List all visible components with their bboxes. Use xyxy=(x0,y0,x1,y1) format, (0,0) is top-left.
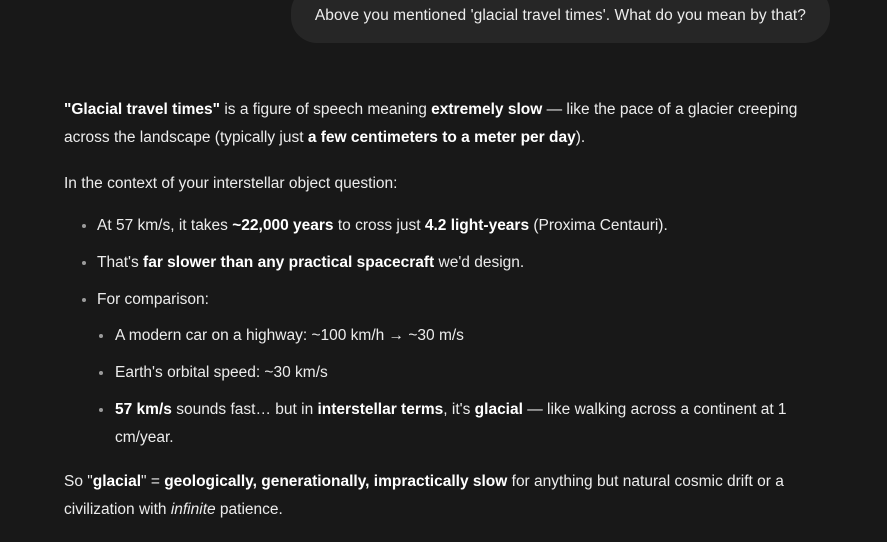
conclusion-paragraph: So "glacial" = geologically, generationa… xyxy=(64,468,832,524)
intro-after-term: is a figure of speech meaning xyxy=(220,101,431,118)
intro-paragraph: "Glacial travel times" is a figure of sp… xyxy=(64,96,832,152)
intro-quote-close: " xyxy=(213,101,220,118)
sub-bullet-2-tail-a: , it's xyxy=(443,401,474,418)
list-item: 57 km/s sounds fast… but in interstellar… xyxy=(97,396,832,452)
conclusion-lead: So " xyxy=(64,473,93,490)
sub-bullet-0-text: A modern car on a highway: ~100 km/h → ~… xyxy=(115,327,464,344)
comparison-bullet-list: A modern car on a highway: ~100 km/h → ~… xyxy=(97,322,832,452)
conclusion-italic-word: infinite xyxy=(171,501,216,518)
sub-bullet-2-bold-lead: 57 km/s xyxy=(115,401,172,418)
sub-bullet-2-bold-mid: interstellar terms xyxy=(318,401,444,418)
sub-bullet-2-bold-end: glacial xyxy=(475,401,523,418)
bullet-0-post: (Proxima Centauri). xyxy=(529,217,668,234)
bullet-1-bold1: far slower than any practical spacecraft xyxy=(143,254,434,271)
bullet-0-pre: At 57 km/s, it takes xyxy=(97,217,232,234)
sub-bullet-1-text: Earth's orbital speed: ~30 km/s xyxy=(115,364,328,381)
intro-tail: ). xyxy=(576,129,585,146)
user-message-row: Above you mentioned 'glacial travel time… xyxy=(0,0,887,43)
primary-bullet-list: At 57 km/s, it takes ~22,000 years to cr… xyxy=(64,212,832,452)
list-item: That's far slower than any practical spa… xyxy=(64,249,832,277)
list-item: A modern car on a highway: ~100 km/h → ~… xyxy=(97,322,832,350)
conclusion-bold-quoted: glacial xyxy=(93,473,141,490)
list-item: At 57 km/s, it takes ~22,000 years to cr… xyxy=(64,212,832,240)
intro-bold-emphasis: extremely slow xyxy=(431,101,542,118)
bullet-0-bold1: ~22,000 years xyxy=(232,217,333,234)
list-item: For comparison: A modern car on a highwa… xyxy=(64,286,832,452)
conclusion-tail: patience. xyxy=(216,501,283,518)
bullet-1-post: we'd design. xyxy=(434,254,524,271)
intro-bold-term: Glacial travel times xyxy=(71,101,212,118)
bullet-0-mid: to cross just xyxy=(334,217,425,234)
bullet-0-bold2: 4.2 light-years xyxy=(425,217,529,234)
list-item: Earth's orbital speed: ~30 km/s xyxy=(97,359,832,387)
bullet-1-pre: That's xyxy=(97,254,143,271)
bullet-2-pre: For comparison: xyxy=(97,291,209,308)
user-message-bubble[interactable]: Above you mentioned 'glacial travel time… xyxy=(291,0,830,43)
conclusion-bold-definition: geologically, generationally, impractica… xyxy=(164,473,507,490)
chat-page: Above you mentioned 'glacial travel time… xyxy=(0,0,887,506)
intro-bold-rate: a few centimeters to a meter per day xyxy=(308,129,576,146)
assistant-message: "Glacial travel times" is a figure of sp… xyxy=(64,96,832,542)
conclusion-after-quote: " = xyxy=(141,473,164,490)
sub-bullet-2-after-bold: sounds fast… but in xyxy=(172,401,318,418)
context-lead-paragraph: In the context of your interstellar obje… xyxy=(64,170,832,198)
